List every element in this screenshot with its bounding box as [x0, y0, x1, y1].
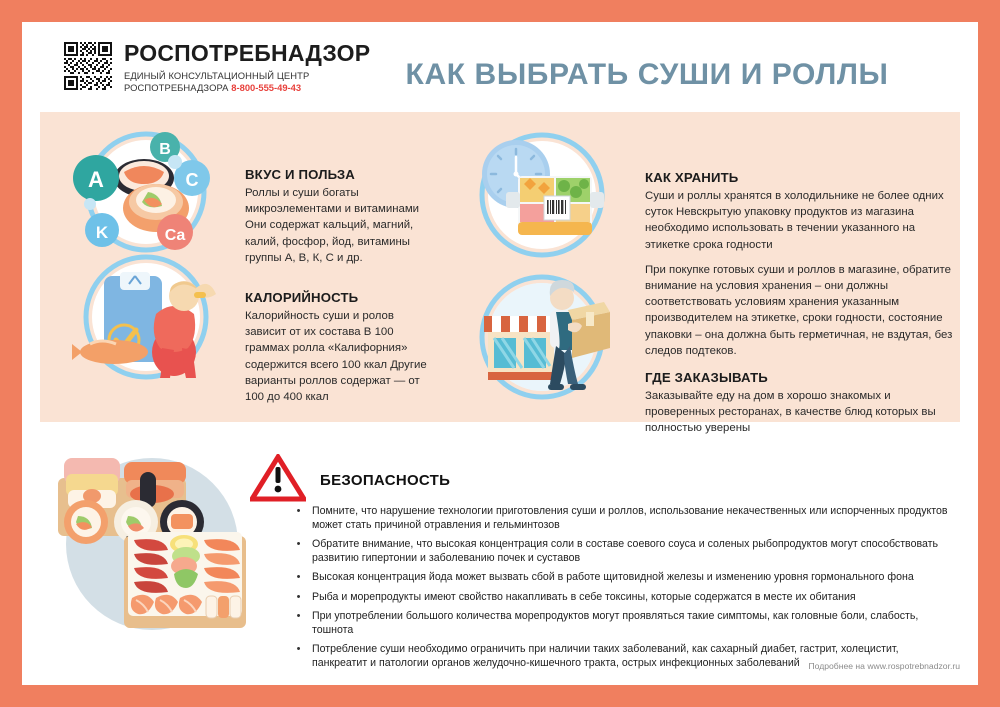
storage-paragraph-1: Суши и роллы хранятся в холодильнике не … — [645, 188, 955, 253]
consult-center-line2: РОСПОТРЕБНАДЗОРА 8-800-555-49-43 — [124, 82, 370, 94]
logo-text-block: РОСПОТРЕБНАДЗОР ЕДИНЫЙ КОНСУЛЬТАЦИОННЫЙ … — [124, 40, 370, 94]
calories-paragraph: Калорийность суши и ролов зависит от их … — [245, 308, 435, 405]
storage-title: КАК ХРАНИТЬ — [645, 170, 955, 185]
vitamin-label-a: A — [88, 167, 104, 192]
info-panel: A B C K Ca ВКУС И ПОЛЬЗА Роллы и суши бо… — [40, 112, 960, 422]
sushi-platter-illustration — [40, 440, 260, 640]
safety-section: БЕЗОПАСНОСТЬ • Помните, что нарушение те… — [22, 432, 978, 685]
delivery-illustration — [458, 272, 626, 402]
ordering-body: Заказывайте еду на дом в хорошо знакомых… — [645, 388, 955, 437]
ordering-paragraph: Заказывайте еду на дом в хорошо знакомых… — [645, 388, 955, 437]
org-genitive: РОСПОТРЕБНАДЗОРА — [124, 82, 229, 93]
safety-title: БЕЗОПАСНОСТЬ — [320, 472, 450, 489]
poster-header: РОСПОТРЕБНАДЗОР ЕДИНЫЙ КОНСУЛЬТАЦИОННЫЙ … — [22, 22, 978, 102]
list-item: • Помните, что нарушение технологии приг… — [294, 504, 954, 532]
taste-body: Роллы и суши богаты микроэлементами и ви… — [245, 185, 435, 266]
bullet-marker-icon: • — [294, 504, 303, 532]
list-item: • Обратите внимание, что высокая концент… — [294, 537, 954, 565]
section-calories: КАЛОРИЙНОСТЬ Калорийность суши и ролов з… — [245, 290, 435, 405]
storage-body: Суши и роллы хранятся в холодильнике не … — [645, 188, 955, 359]
bullet-text: Обратите внимание, что высокая концентра… — [312, 537, 954, 565]
list-item: • Высокая концентрация йода может вызват… — [294, 570, 954, 584]
taste-paragraph: Роллы и суши богаты микроэлементами и ви… — [245, 185, 435, 266]
bullet-text: Помните, что нарушение технологии пригот… — [312, 504, 954, 532]
bullet-marker-icon: • — [294, 609, 303, 637]
vitamin-label-k: K — [96, 223, 109, 242]
calories-body: Калорийность суши и ролов зависит от их … — [245, 308, 435, 405]
bullet-marker-icon: • — [294, 642, 303, 670]
vitamin-label-b: B — [159, 141, 171, 158]
left-column: A B C K Ca ВКУС И ПОЛЬЗА Роллы и суши бо… — [40, 112, 440, 422]
footer-note: Подробнее на www.rospotrebnadzor.ru — [808, 661, 960, 671]
list-item: • При употреблении большого количества м… — [294, 609, 954, 637]
warning-triangle-icon — [250, 454, 306, 507]
safety-bullet-list: • Помните, что нарушение технологии приг… — [294, 504, 954, 675]
consult-center-line: ЕДИНЫЙ КОНСУЛЬТАЦИОННЫЙ ЦЕНТР — [124, 70, 370, 82]
calories-title: КАЛОРИЙНОСТЬ — [245, 290, 435, 305]
ordering-title: ГДЕ ЗАКАЗЫВАТЬ — [645, 370, 955, 385]
rospotrebnadzor-logo: РОСПОТРЕБНАДЗОР ЕДИНЫЙ КОНСУЛЬТАЦИОННЫЙ … — [62, 40, 370, 94]
vitamins-illustration: A B C K Ca — [62, 130, 230, 255]
section-ordering: ГДЕ ЗАКАЗЫВАТЬ Заказывайте еду на дом в … — [645, 370, 955, 437]
bullet-text: Высокая концентрация йода может вызвать … — [312, 570, 954, 584]
bullet-marker-icon: • — [294, 590, 303, 604]
calories-illustration — [66, 252, 226, 382]
section-taste: ВКУС И ПОЛЬЗА Роллы и суши богаты микроэ… — [245, 167, 435, 266]
qr-code-icon — [62, 40, 114, 92]
vitamin-label-c: C — [186, 170, 199, 190]
list-item: • Рыба и морепродукты имеют свойство нак… — [294, 590, 954, 604]
bullet-text: При употреблении большого количества мор… — [312, 609, 954, 637]
brand-name: РОСПОТРЕБНАДЗОР — [124, 42, 370, 65]
hotline-phone: 8-800-555-49-43 — [231, 82, 301, 93]
bullet-text: Рыба и морепродукты имеют свойство накап… — [312, 590, 954, 604]
section-storage: КАК ХРАНИТЬ Суши и роллы хранятся в холо… — [645, 170, 955, 359]
page-title: КАК ВЫБРАТЬ СУШИ И РОЛЛЫ — [352, 58, 942, 92]
bullet-marker-icon: • — [294, 537, 303, 565]
storage-paragraph-2: При покупке готовых суши и роллов в мага… — [645, 262, 955, 359]
taste-title: ВКУС И ПОЛЬЗА — [245, 167, 435, 182]
brand-subtitle: ЕДИНЫЙ КОНСУЛЬТАЦИОННЫЙ ЦЕНТР РОСПОТРЕБН… — [124, 70, 370, 94]
storage-illustration — [458, 130, 626, 260]
vitamin-label-ca: Ca — [165, 227, 186, 244]
bullet-marker-icon: • — [294, 570, 303, 584]
poster-page: РОСПОТРЕБНАДЗОР ЕДИНЫЙ КОНСУЛЬТАЦИОННЫЙ … — [22, 22, 978, 685]
right-column: КАК ХРАНИТЬ Суши и роллы хранятся в холо… — [440, 112, 960, 422]
